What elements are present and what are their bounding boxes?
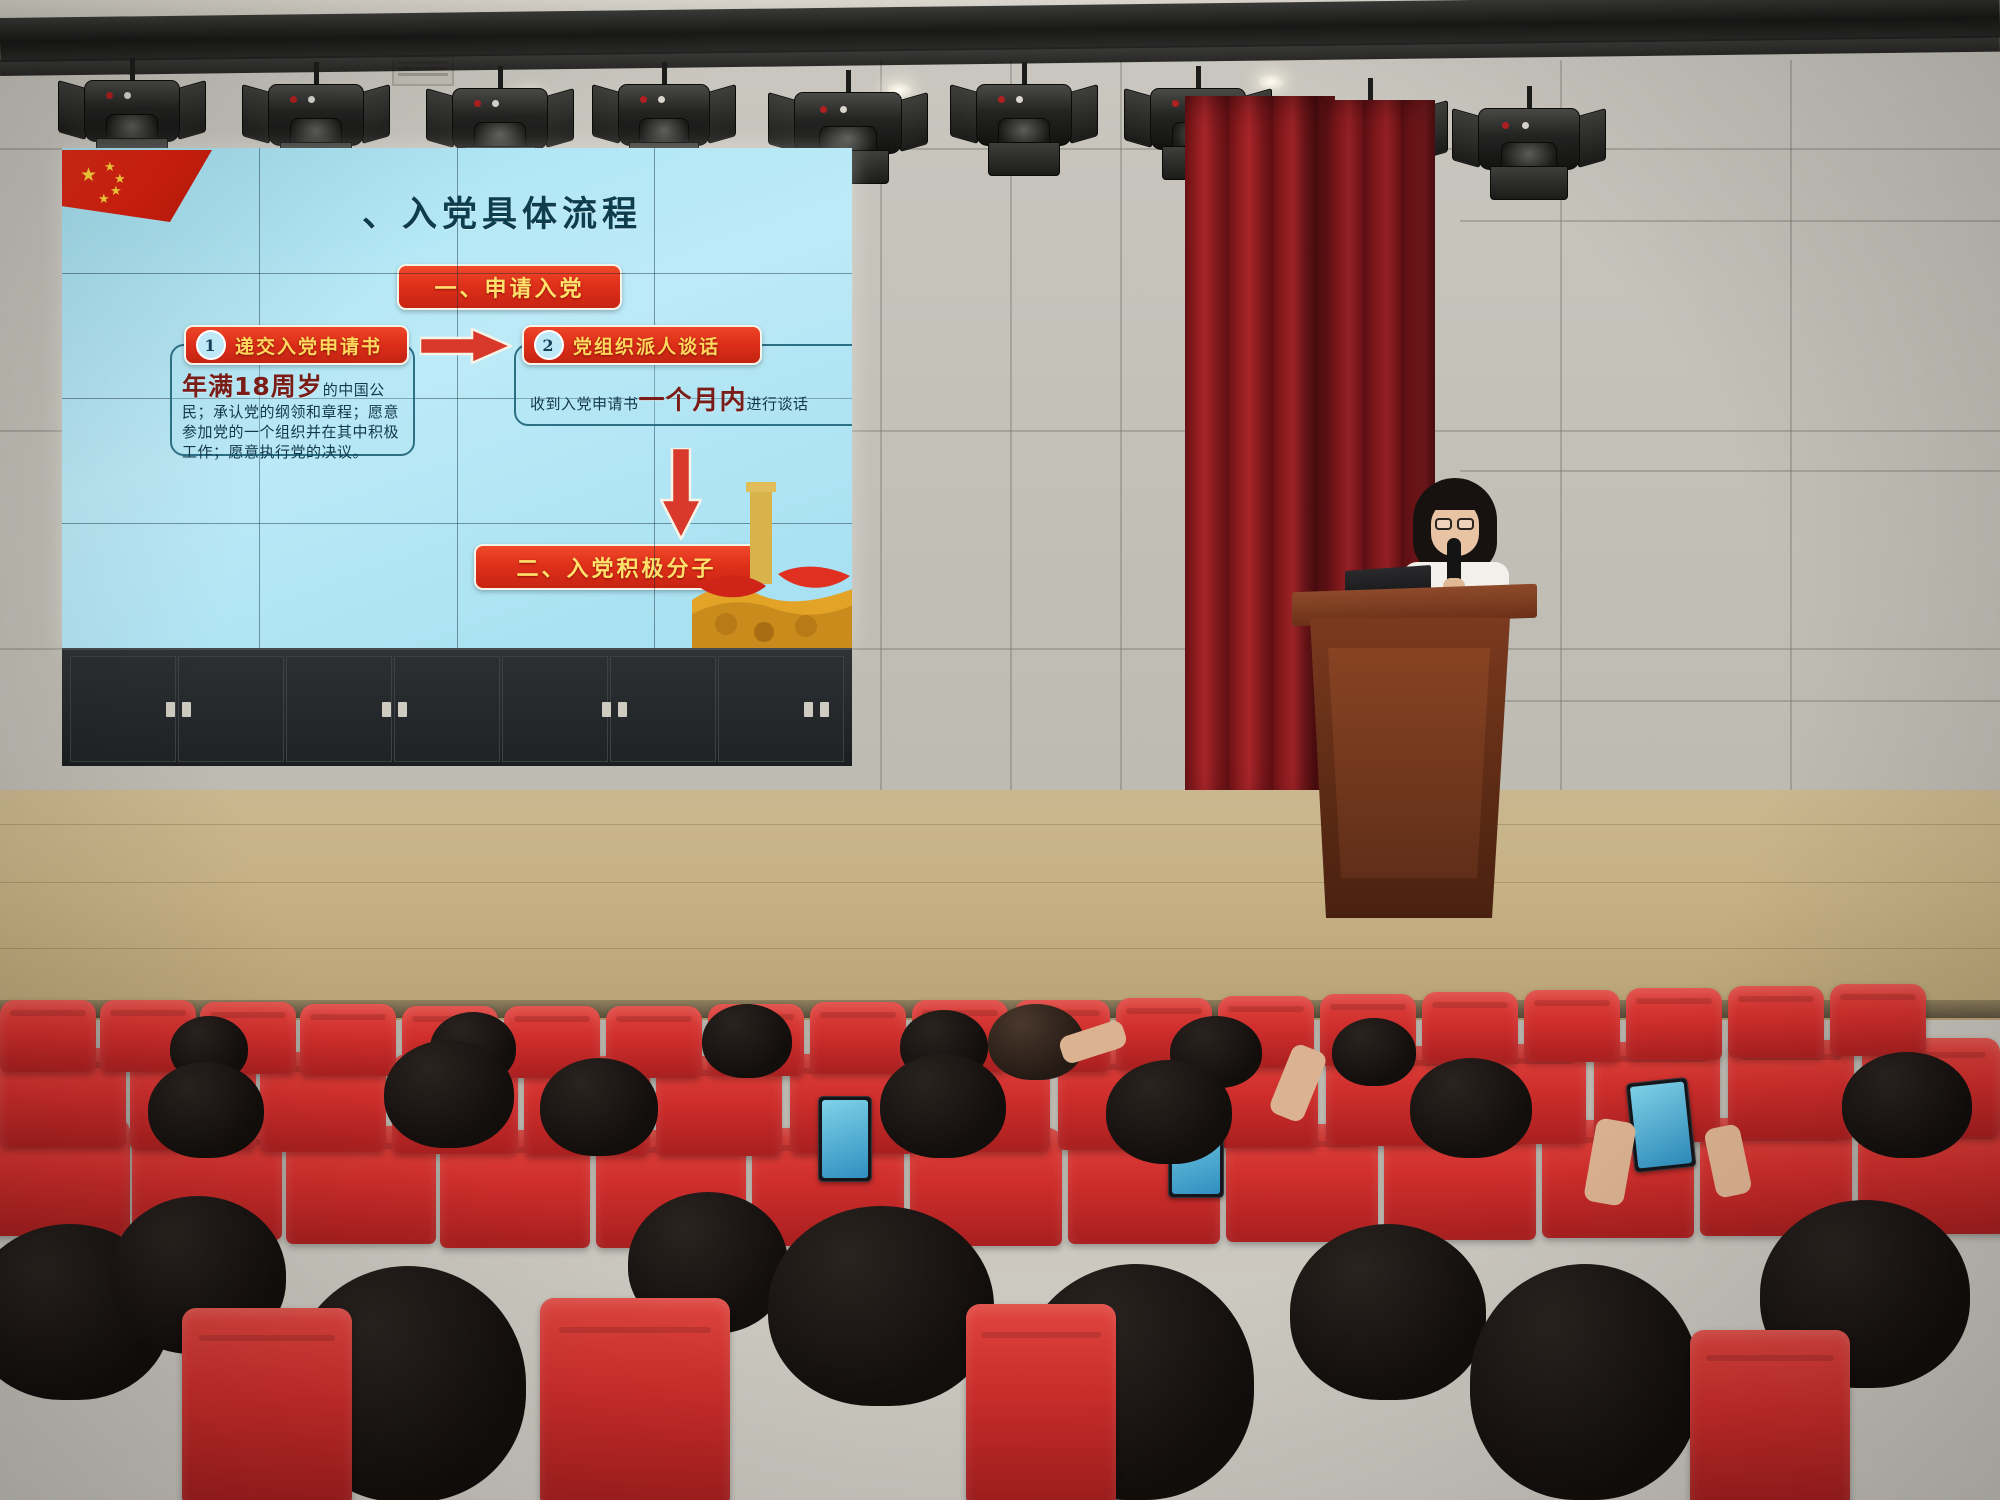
audience-member — [768, 1206, 994, 1406]
theater-seat[interactable] — [182, 1308, 352, 1500]
wall-seam — [1460, 700, 2000, 702]
cabinet-handle[interactable] — [602, 702, 611, 717]
cabinet-handle[interactable] — [182, 702, 191, 717]
audience-member — [1290, 1224, 1486, 1400]
theater-seat[interactable] — [1524, 990, 1620, 1062]
theater-seat[interactable] — [1626, 988, 1722, 1060]
theater-seat[interactable] — [0, 1000, 96, 1072]
cabinet-handle[interactable] — [166, 702, 175, 717]
audience-member — [1332, 1018, 1416, 1086]
step-1-description: 年满18周岁的中国公民；承认党的纲领和章程；愿意参加党的一个组织并在其中积极工作… — [182, 370, 406, 462]
cabinet-handle[interactable] — [398, 702, 407, 717]
audience-member — [540, 1058, 658, 1156]
step-1-number: 1 — [196, 330, 226, 360]
audience-member — [702, 1004, 792, 1078]
theater-seat[interactable] — [1728, 986, 1824, 1058]
theater-seat[interactable] — [1830, 984, 1926, 1056]
wall-seam — [1790, 60, 1792, 820]
arrow-right-icon — [420, 328, 512, 364]
arrow-down-icon — [660, 448, 702, 540]
theater-seat[interactable] — [1422, 992, 1518, 1064]
step-2-description: 收到入党申请书一个月内进行谈话 — [530, 384, 852, 418]
glasses-icon — [1435, 518, 1452, 530]
theater-seat[interactable] — [540, 1298, 730, 1500]
theater-seat[interactable] — [300, 1004, 396, 1076]
cabinet-door[interactable] — [70, 656, 176, 762]
cabinet-handle[interactable] — [804, 702, 813, 717]
cabinet-door[interactable] — [286, 656, 392, 762]
ceiling-downlight — [1258, 74, 1284, 90]
audience-member — [1106, 1060, 1232, 1164]
led-tile-seam — [62, 273, 852, 274]
step-2-description-suffix: 进行谈话 — [747, 395, 809, 413]
stage-floor — [0, 790, 2000, 1020]
audience-phone[interactable] — [1625, 1077, 1696, 1173]
auditorium-scene: ★ ★ ★ ★ ★ 、入党具体流程 一、申请入党 1 递交入党申请书 年满18周… — [0, 0, 2000, 1500]
stage-spotlight — [1478, 86, 1580, 214]
podium — [1292, 588, 1537, 918]
podium-front-panel — [1328, 648, 1490, 878]
wall-seam — [1460, 220, 2000, 222]
cabinet-door[interactable] — [394, 656, 500, 762]
step-2-box: 2 党组织派人谈话 — [522, 325, 762, 365]
led-video-wall[interactable]: ★ ★ ★ ★ ★ 、入党具体流程 一、申请入党 1 递交入党申请书 年满18周… — [62, 148, 852, 648]
audience-member — [880, 1054, 1006, 1158]
stage-cabinet — [62, 648, 852, 766]
step-2-number: 2 — [534, 330, 564, 360]
step-1-emphasis: 年满18周岁 — [182, 372, 323, 401]
audience-member — [384, 1040, 514, 1148]
step-1-label: 递交入党申请书 — [235, 332, 382, 359]
presenter-bangs — [1423, 484, 1487, 510]
wall-seam — [1460, 470, 2000, 472]
section-banner-apply: 一、申请入党 — [397, 264, 622, 310]
audience-phone[interactable] — [818, 1096, 872, 1182]
audience-member — [1842, 1052, 1972, 1158]
step-1-box: 1 递交入党申请书 — [184, 325, 409, 365]
glasses-icon — [1457, 518, 1474, 530]
slide-title: 、入党具体流程 — [222, 186, 782, 237]
theater-seat[interactable] — [810, 1002, 906, 1074]
cabinet-handle[interactable] — [618, 702, 627, 717]
step-2-emphasis: 一个月内 — [639, 386, 747, 416]
theater-seat[interactable] — [1690, 1330, 1850, 1500]
theater-seat[interactable] — [966, 1304, 1116, 1500]
cabinet-handle[interactable] — [820, 702, 829, 717]
stage-spotlight — [976, 62, 1072, 186]
cabinet-handle[interactable] — [382, 702, 391, 717]
audience-member — [1410, 1058, 1532, 1158]
audience-member — [1470, 1264, 1700, 1500]
cabinet-door[interactable] — [178, 656, 284, 762]
monument-relief-graphic — [692, 482, 852, 648]
cabinet-door[interactable] — [502, 656, 608, 762]
chinese-flag-icon: ★ ★ ★ ★ ★ — [62, 150, 212, 222]
step-2-description-prefix: 收到入党申请书 — [530, 395, 639, 413]
audience-member — [148, 1062, 264, 1158]
step-2-label: 党组织派人谈话 — [573, 332, 720, 359]
